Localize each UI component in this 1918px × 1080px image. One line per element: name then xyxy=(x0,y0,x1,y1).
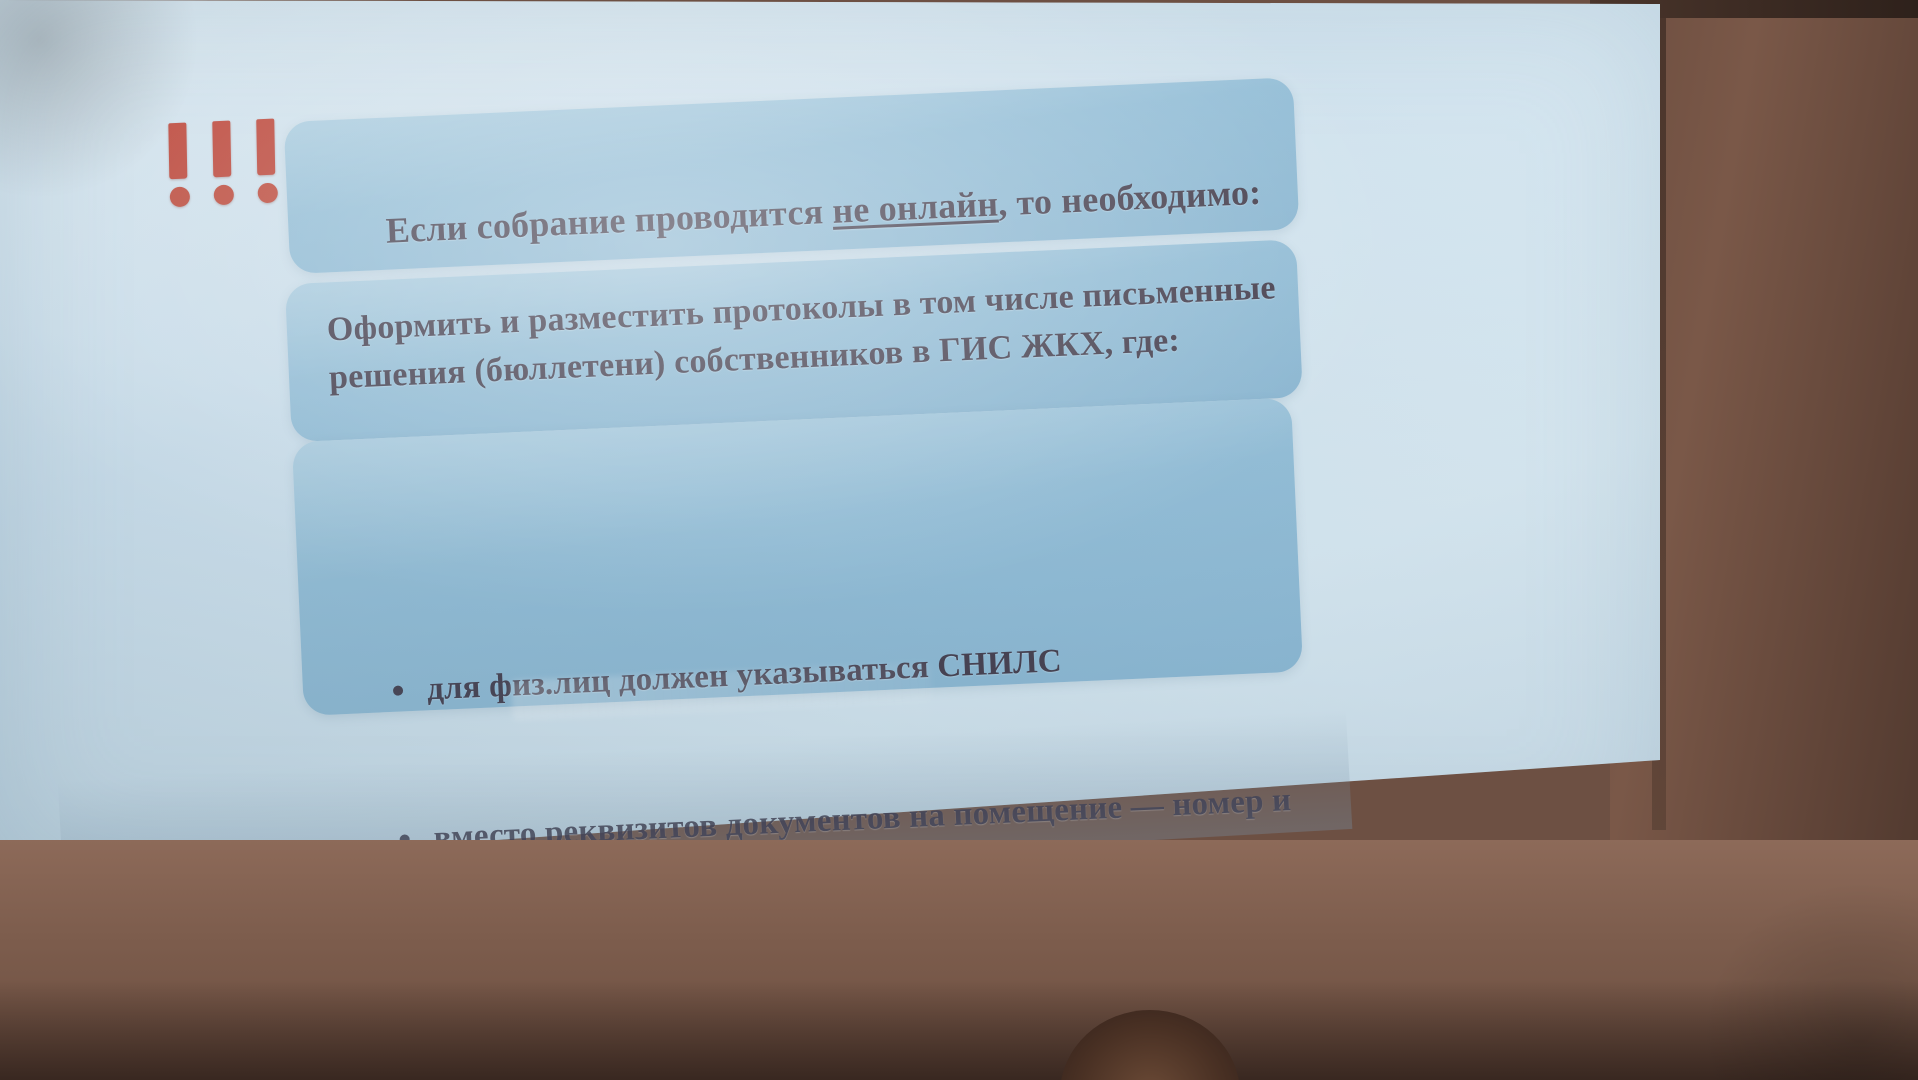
exclamation-dot xyxy=(213,184,234,205)
exclamation-dot xyxy=(169,186,190,207)
exclamation-bar xyxy=(256,119,275,176)
condition-text-part-3: , то необходимо: xyxy=(997,172,1262,224)
condition-text-part-1: Если собрание проводится xyxy=(385,191,833,251)
exclamation-dot xyxy=(257,183,278,204)
presentation-slide: Если собрание проводится не онлайн, то н… xyxy=(60,0,1396,839)
exclamation-bar xyxy=(212,121,231,178)
exclamation-marks-icon xyxy=(166,119,280,210)
photo-scene: Если собрание проводится не онлайн, то н… xyxy=(0,0,1918,1080)
exclamation-icon-2 xyxy=(210,120,236,207)
list-item: для физ.лиц должен указываться СНИЛС xyxy=(380,627,1311,716)
room-shadow xyxy=(0,980,1918,1080)
exclamation-bar xyxy=(168,123,187,180)
exclamation-icon-1 xyxy=(166,122,192,209)
exclamation-icon-3 xyxy=(254,119,280,206)
condition-text-underlined: не онлайн xyxy=(831,183,999,230)
